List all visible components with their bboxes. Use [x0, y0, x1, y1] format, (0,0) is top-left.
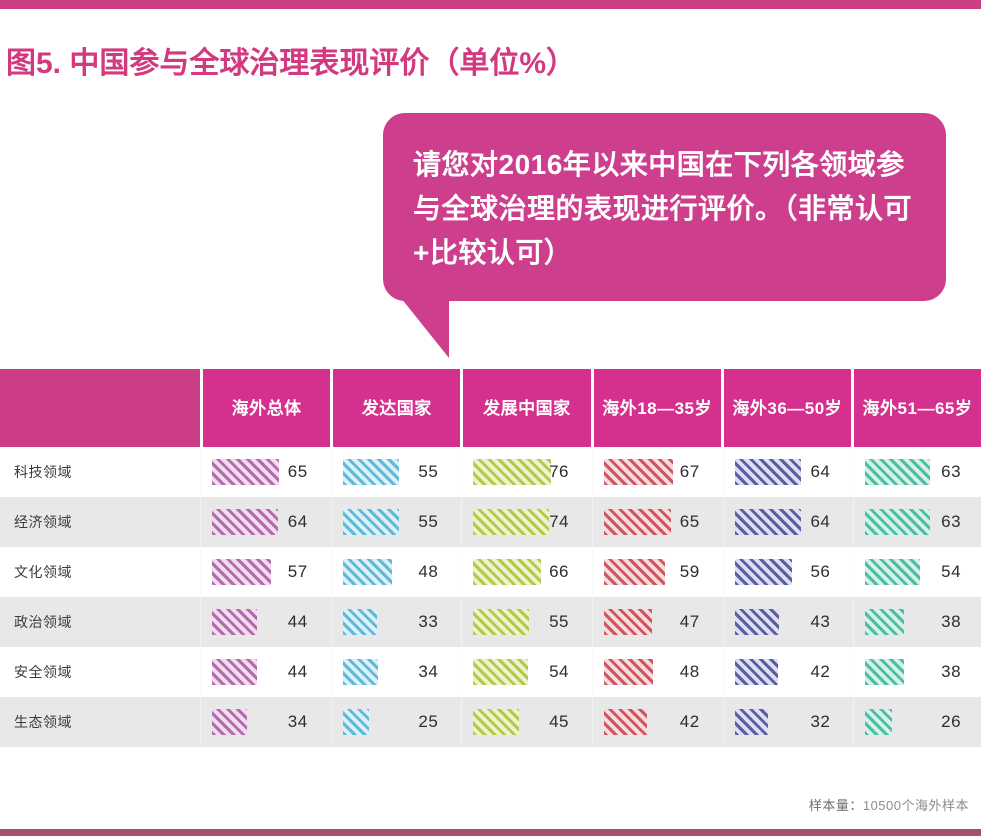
- column-header-3: 发展中国家: [463, 369, 590, 447]
- data-cell: 34: [331, 647, 459, 697]
- value-text: 38: [941, 662, 961, 682]
- data-cell: 64: [723, 447, 851, 497]
- question-callout: 请您对2016年以来中国在下列各领域参与全球治理的表现进行评价。（非常认可+比较…: [383, 113, 946, 301]
- data-table: 海外总体发达国家发展中国家海外18—35岁海外36—50岁海外51—65岁 科技…: [0, 369, 981, 747]
- value-text: 45: [549, 712, 569, 732]
- value-bar: [343, 609, 377, 635]
- data-cell: 67: [592, 447, 720, 497]
- value-bar: [735, 459, 801, 485]
- data-cell: 66: [461, 547, 589, 597]
- value-text: 56: [810, 562, 830, 582]
- data-cell: 38: [853, 647, 981, 697]
- value-bar: [212, 659, 257, 685]
- table-body: 科技领域655576676463经济领域645574656463文化领域5748…: [0, 447, 981, 747]
- value-text: 42: [680, 712, 700, 732]
- data-cell: 44: [200, 597, 328, 647]
- value-bar: [604, 459, 673, 485]
- table-row: 生态领域342545423226: [0, 697, 981, 747]
- value-bar: [343, 559, 392, 585]
- data-cell: 57: [200, 547, 328, 597]
- value-bar: [604, 559, 665, 585]
- value-text: 55: [418, 512, 438, 532]
- table-row: 科技领域655576676463: [0, 447, 981, 497]
- value-text: 59: [680, 562, 700, 582]
- value-bar: [473, 509, 549, 535]
- value-text: 34: [418, 662, 438, 682]
- value-bar: [604, 609, 652, 635]
- value-text: 64: [288, 512, 308, 532]
- column-header-line1: 发展中: [483, 397, 536, 420]
- value-bar: [604, 709, 647, 735]
- row-label: 政治领域: [0, 597, 200, 647]
- value-bar: [604, 659, 653, 685]
- column-header-line2: 18—35岁: [637, 397, 712, 420]
- value-text: 63: [941, 512, 961, 532]
- value-text: 55: [549, 612, 569, 632]
- value-bar: [212, 509, 278, 535]
- data-cell: 38: [853, 597, 981, 647]
- data-cell: 59: [592, 547, 720, 597]
- row-label: 科技领域: [0, 447, 200, 497]
- value-bar: [735, 559, 792, 585]
- row-cells: 645574656463: [200, 497, 981, 547]
- table-row: 政治领域443355474338: [0, 597, 981, 647]
- data-cell: 76: [461, 447, 589, 497]
- data-cell: 25: [331, 697, 459, 747]
- value-text: 57: [288, 562, 308, 582]
- value-bar: [212, 609, 257, 635]
- value-text: 74: [549, 512, 569, 532]
- data-cell: 54: [853, 547, 981, 597]
- data-cell: 32: [723, 697, 851, 747]
- column-header-5: 海外36—50岁: [724, 369, 851, 447]
- value-bar: [735, 509, 801, 535]
- row-label: 经济领域: [0, 497, 200, 547]
- bottom-accent-bar: [0, 829, 981, 836]
- table-row: 安全领域443454484238: [0, 647, 981, 697]
- data-cell: 65: [200, 447, 328, 497]
- data-cell: 43: [723, 597, 851, 647]
- value-text: 76: [549, 462, 569, 482]
- data-cell: 56: [723, 547, 851, 597]
- value-bar: [343, 459, 399, 485]
- value-text: 42: [810, 662, 830, 682]
- value-bar: [473, 659, 528, 685]
- value-text: 44: [288, 612, 308, 632]
- value-bar: [735, 659, 778, 685]
- data-cell: 55: [331, 447, 459, 497]
- value-bar: [343, 509, 399, 535]
- value-text: 54: [941, 562, 961, 582]
- value-bar: [865, 709, 892, 735]
- value-bar: [473, 609, 529, 635]
- value-bar: [735, 609, 779, 635]
- table-row: 文化领域574866595654: [0, 547, 981, 597]
- value-text: 54: [549, 662, 569, 682]
- sample-size-value: 10500个海外样本: [863, 798, 969, 813]
- value-text: 55: [418, 462, 438, 482]
- row-cells: 443355474338: [200, 597, 981, 647]
- column-header-line1: 海外: [602, 397, 637, 420]
- row-cells: 574866595654: [200, 547, 981, 597]
- value-bar: [473, 459, 551, 485]
- data-cell: 74: [461, 497, 589, 547]
- column-header-line2: 36—50岁: [767, 397, 842, 420]
- table-header-row: 海外总体发达国家发展中国家海外18—35岁海外36—50岁海外51—65岁: [0, 369, 981, 447]
- data-cell: 44: [200, 647, 328, 697]
- column-header-line2: 51—65岁: [898, 397, 973, 420]
- value-text: 38: [941, 612, 961, 632]
- data-cell: 42: [592, 697, 720, 747]
- value-bar: [865, 509, 930, 535]
- column-header-line1: 海外: [863, 397, 898, 420]
- row-cells: 443454484238: [200, 647, 981, 697]
- data-cell: 65: [592, 497, 720, 547]
- value-text: 26: [941, 712, 961, 732]
- header-columns: 海外总体发达国家发展中国家海外18—35岁海外36—50岁海外51—65岁: [203, 369, 981, 447]
- value-text: 32: [810, 712, 830, 732]
- data-cell: 26: [853, 697, 981, 747]
- value-bar: [735, 709, 768, 735]
- column-header-4: 海外18—35岁: [594, 369, 721, 447]
- value-bar: [865, 609, 904, 635]
- value-bar: [865, 559, 920, 585]
- data-cell: 45: [461, 697, 589, 747]
- value-text: 65: [288, 462, 308, 482]
- table-row: 经济领域645574656463: [0, 497, 981, 547]
- sample-size-note: 样本量：10500个海外样本: [809, 795, 969, 814]
- callout-tail-icon: [391, 298, 449, 358]
- sample-size-label: 样本量：: [809, 798, 863, 813]
- data-cell: 63: [853, 497, 981, 547]
- callout-bubble: 请您对2016年以来中国在下列各领域参与全球治理的表现进行评价。（非常认可+比较…: [383, 113, 946, 301]
- column-header-1: 海外总体: [203, 369, 330, 447]
- column-header-2: 发达国家: [333, 369, 460, 447]
- value-bar: [865, 459, 930, 485]
- data-cell: 48: [331, 547, 459, 597]
- value-bar: [604, 509, 671, 535]
- value-bar: [212, 459, 279, 485]
- value-text: 64: [810, 462, 830, 482]
- value-text: 48: [418, 562, 438, 582]
- value-text: 43: [810, 612, 830, 632]
- value-text: 67: [680, 462, 700, 482]
- value-text: 47: [680, 612, 700, 632]
- data-cell: 55: [331, 497, 459, 547]
- value-text: 66: [549, 562, 569, 582]
- value-bar: [473, 709, 519, 735]
- top-accent-bar: [0, 0, 981, 9]
- row-label: 安全领域: [0, 647, 200, 697]
- column-header-line1: 海外: [732, 397, 767, 420]
- value-bar: [212, 559, 271, 585]
- page-title: 图5. 中国参与全球治理表现评价（单位%）: [6, 38, 576, 82]
- data-cell: 63: [853, 447, 981, 497]
- value-bar: [473, 559, 541, 585]
- data-cell: 34: [200, 697, 328, 747]
- value-bar: [343, 659, 378, 685]
- row-cells: 655576676463: [200, 447, 981, 497]
- data-cell: 47: [592, 597, 720, 647]
- value-text: 65: [680, 512, 700, 532]
- value-bar: [865, 659, 904, 685]
- column-header-6: 海外51—65岁: [854, 369, 981, 447]
- value-text: 34: [288, 712, 308, 732]
- data-cell: 54: [461, 647, 589, 697]
- row-cells: 342545423226: [200, 697, 981, 747]
- callout-text: 请您对2016年以来中国在下列各领域参与全球治理的表现进行评价。（非常认可+比较…: [413, 143, 916, 275]
- data-cell: 42: [723, 647, 851, 697]
- column-header-line1: 海外总体: [232, 397, 302, 420]
- row-label: 生态领域: [0, 697, 200, 747]
- column-header-line2: 国家: [536, 397, 571, 420]
- value-text: 63: [941, 462, 961, 482]
- value-bar: [343, 709, 369, 735]
- value-text: 48: [680, 662, 700, 682]
- value-bar: [212, 709, 247, 735]
- row-label: 文化领域: [0, 547, 200, 597]
- data-cell: 64: [200, 497, 328, 547]
- header-corner-cell: [0, 369, 200, 447]
- column-header-line1: 发达国家: [362, 397, 432, 420]
- value-text: 44: [288, 662, 308, 682]
- value-text: 25: [418, 712, 438, 732]
- value-text: 64: [810, 512, 830, 532]
- data-cell: 64: [723, 497, 851, 547]
- data-cell: 48: [592, 647, 720, 697]
- data-cell: 33: [331, 597, 459, 647]
- value-text: 33: [418, 612, 438, 632]
- data-cell: 55: [461, 597, 589, 647]
